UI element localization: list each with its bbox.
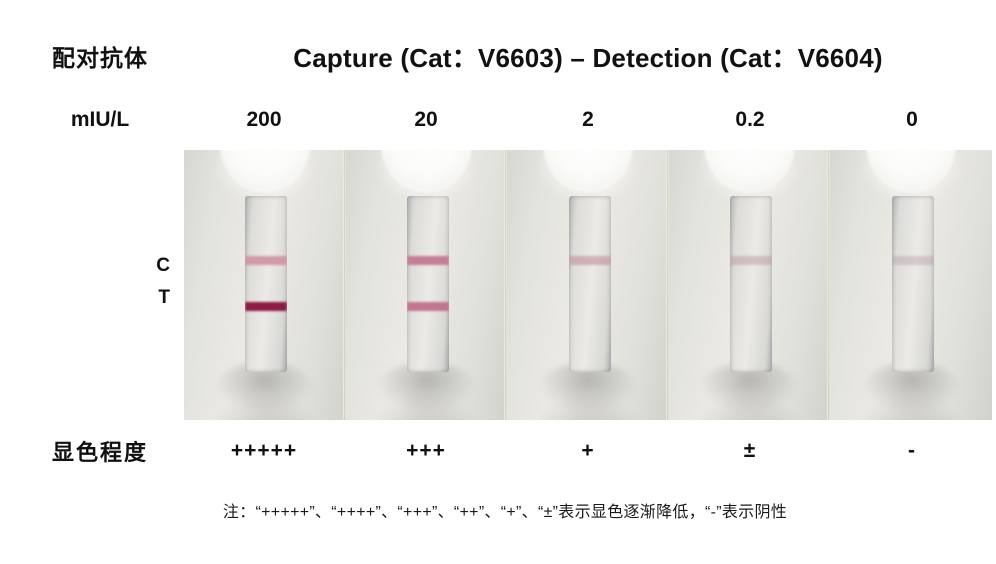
test-strip-20 xyxy=(346,150,508,420)
test-line xyxy=(407,302,449,311)
result-window xyxy=(892,196,934,372)
lateral-flow-strip-photo xyxy=(184,150,992,420)
grade-cell-20: +++ xyxy=(346,422,506,480)
grade-cell-0: - xyxy=(832,422,992,480)
table-row-strip-photo: C T xyxy=(18,150,992,420)
table-row-concentrations: mIU/L 200 20 2 0.2 0 xyxy=(18,92,992,148)
result-window xyxy=(569,196,611,372)
result-window xyxy=(730,196,772,372)
assay-result-table: 配对抗体 Capture (Cat：V6603) – Detection (Ca… xyxy=(0,0,996,564)
test-line-label: T xyxy=(158,288,170,307)
grade-cell-200: +++++ xyxy=(184,422,344,480)
test-strip-200 xyxy=(184,150,346,420)
result-window xyxy=(245,196,287,372)
control-line-label: C xyxy=(156,256,170,275)
table-row-grade: 显色程度 +++++ +++ + ± - xyxy=(18,422,992,480)
concentration-cell-20: 20 xyxy=(346,92,506,148)
concentration-cell-2: 2 xyxy=(508,92,668,148)
control-line xyxy=(730,256,772,265)
control-line xyxy=(407,256,449,265)
control-line xyxy=(245,256,287,265)
grade-cell-0.2: ± xyxy=(670,422,830,480)
strip-photo-band xyxy=(184,150,992,420)
table-row-note: 注：“+++++”、“++++”、“+++”、“++”、“+”、“±”表示显色逐… xyxy=(18,482,992,538)
header-title: Capture (Cat：V6603) – Detection (Cat：V66… xyxy=(184,22,992,90)
unit-label: mIU/L xyxy=(18,92,182,148)
ct-label-cell: C T xyxy=(18,150,182,420)
concentration-cell-0: 0 xyxy=(832,92,992,148)
test-strip-2 xyxy=(507,150,669,420)
header-row-label: 配对抗体 xyxy=(18,22,182,90)
table-row-header: 配对抗体 Capture (Cat：V6603) – Detection (Ca… xyxy=(18,22,992,90)
concentration-cell-0.2: 0.2 xyxy=(670,92,830,148)
antibody-pair-table: 配对抗体 Capture (Cat：V6603) – Detection (Ca… xyxy=(16,20,994,540)
result-window xyxy=(407,196,449,372)
control-line xyxy=(892,256,934,265)
concentration-cell-200: 200 xyxy=(184,92,344,148)
grade-cell-2: + xyxy=(508,422,668,480)
footnote-text: 注：“+++++”、“++++”、“+++”、“++”、“+”、“±”表示显色逐… xyxy=(18,482,992,538)
control-line xyxy=(569,256,611,265)
test-strip-0 xyxy=(830,150,992,420)
grade-row-label: 显色程度 xyxy=(18,422,182,480)
test-strip-0.2 xyxy=(669,150,831,420)
test-line xyxy=(245,302,287,311)
ct-divider xyxy=(18,284,182,286)
